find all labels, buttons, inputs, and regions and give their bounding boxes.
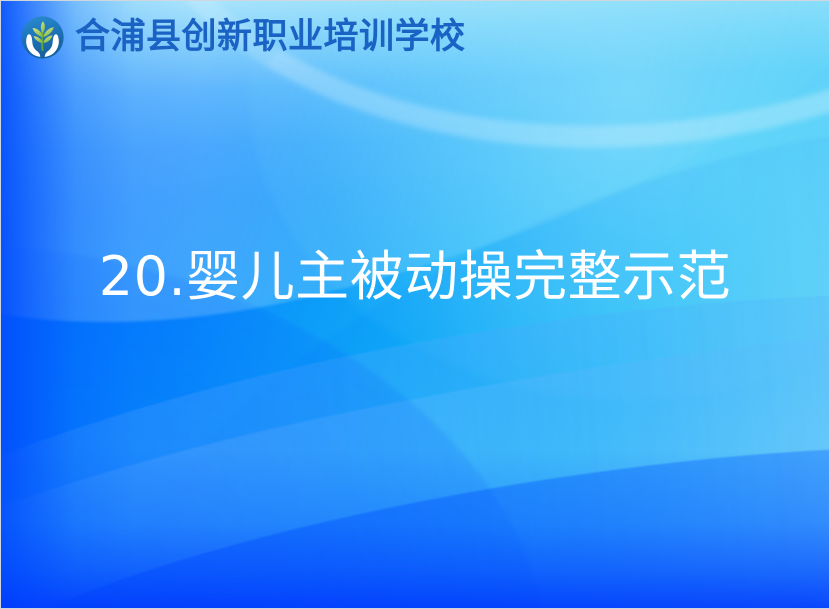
sprout-in-hands-logo-icon [20,15,65,60]
slide-title: 20.婴儿主被动操完整示范 [99,248,731,305]
slide-header: 合浦县创新职业培训学校 [1,1,829,73]
brand-title: 合浦县创新职业培训学校 [75,20,466,55]
presentation-slide: 合浦县创新职业培训学校 20.婴儿主被动操完整示范 [0,0,830,609]
slide-title-container: 20.婴儿主被动操完整示范 [1,248,829,305]
